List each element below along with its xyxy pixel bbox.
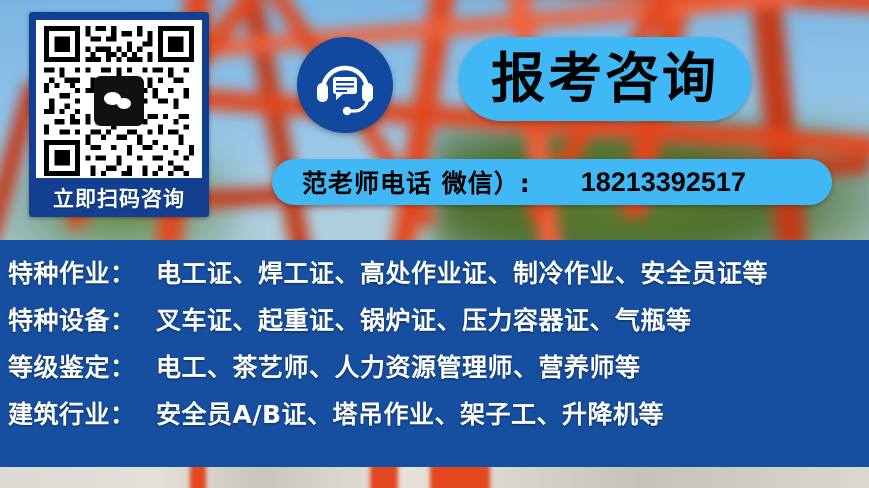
- promo-poster: 立即扫码咨询 报考咨询 范老师电话 微信）: 18213392517: [0, 0, 869, 488]
- headset-support-badge: [297, 37, 393, 133]
- wechat-logo-icon: [94, 76, 144, 126]
- headset-support-icon: [310, 50, 380, 120]
- qr-code-card[interactable]: 立即扫码咨询: [29, 12, 209, 217]
- info-row-category: 特种设备：: [8, 301, 156, 337]
- title-pill: 报考咨询: [459, 37, 751, 121]
- phone-label: 范老师电话 微信）:: [302, 164, 531, 200]
- certification-info-band: 特种作业： 电工证、焊工证、高处作业证、制冷作业、安全员证等 特种设备： 叉车证…: [0, 240, 869, 467]
- info-row-category: 等级鉴定：: [8, 348, 156, 384]
- phone-number[interactable]: 18213392517: [581, 167, 746, 198]
- info-row-items: 安全员A/B证、塔吊作业、架子工、升降机等: [156, 395, 869, 431]
- info-row-special-equipment: 特种设备： 叉车证、起重证、锅炉证、压力容器证、气瓶等: [8, 301, 869, 348]
- qr-card-label: 立即扫码咨询: [53, 183, 185, 213]
- phone-contact-pill[interactable]: 范老师电话 微信）: 18213392517: [272, 159, 832, 205]
- info-row-items: 叉车证、起重证、锅炉证、压力容器证、气瓶等: [156, 301, 869, 337]
- bottom-photo-strip: [0, 467, 869, 488]
- title-text: 报考咨询: [491, 52, 719, 106]
- info-row-grade-assessment: 等级鉴定： 电工、茶艺师、人力资源管理师、营养师等: [8, 348, 869, 395]
- qr-code-image[interactable]: [36, 20, 202, 178]
- info-row-category: 特种作业：: [8, 254, 156, 290]
- info-row-construction-industry: 建筑行业： 安全员A/B证、塔吊作业、架子工、升降机等: [8, 395, 869, 442]
- info-row-category: 建筑行业：: [8, 395, 156, 431]
- info-row-items: 电工证、焊工证、高处作业证、制冷作业、安全员证等: [156, 254, 869, 290]
- info-row-items: 电工、茶艺师、人力资源管理师、营养师等: [156, 348, 869, 384]
- info-row-special-operations: 特种作业： 电工证、焊工证、高处作业证、制冷作业、安全员证等: [8, 254, 869, 301]
